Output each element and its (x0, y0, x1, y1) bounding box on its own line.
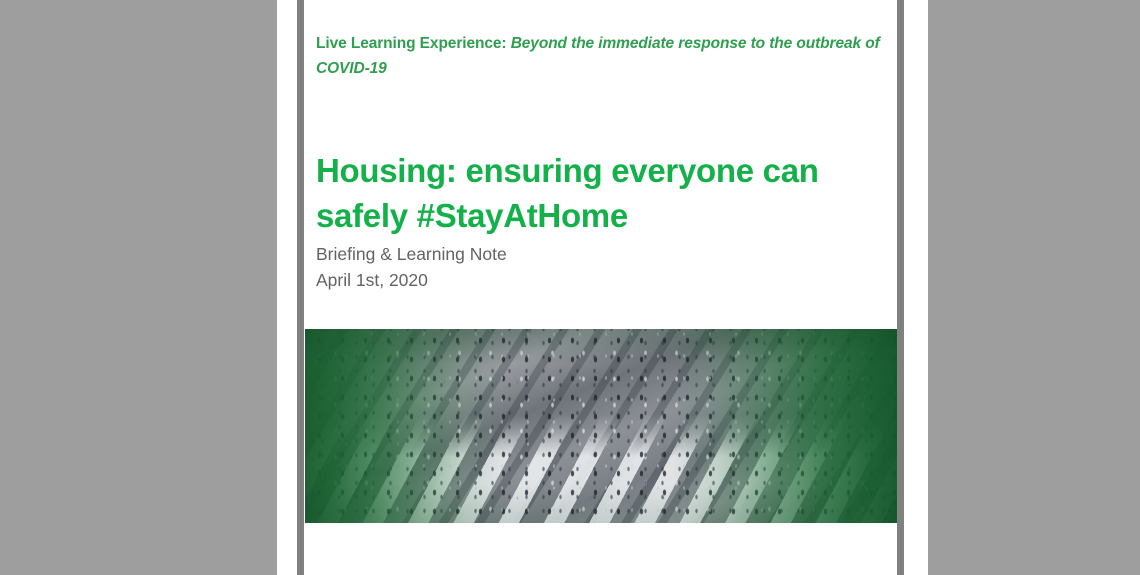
hero-image (305, 329, 897, 523)
slide-date: April 1st, 2020 (316, 267, 836, 293)
page-left-rule (297, 0, 304, 575)
slide-kicker: Live Learning Experience: Beyond the imm… (316, 31, 896, 81)
slide-canvas[interactable]: Live Learning Experience: Beyond the imm… (304, 0, 897, 575)
slide-subtitle-block: Briefing & Learning Note April 1st, 2020 (316, 241, 836, 293)
page-right-rule (897, 0, 904, 575)
hero-vignette-layer (305, 329, 897, 523)
slide-subtitle: Briefing & Learning Note (316, 241, 836, 267)
slide-content: Live Learning Experience: Beyond the imm… (304, 0, 897, 575)
slide-title: Housing: ensuring everyone can safely #S… (316, 148, 836, 238)
kicker-lede: Live Learning Experience: (316, 35, 506, 52)
document-viewer[interactable]: Live Learning Experience: Beyond the imm… (0, 0, 1140, 575)
